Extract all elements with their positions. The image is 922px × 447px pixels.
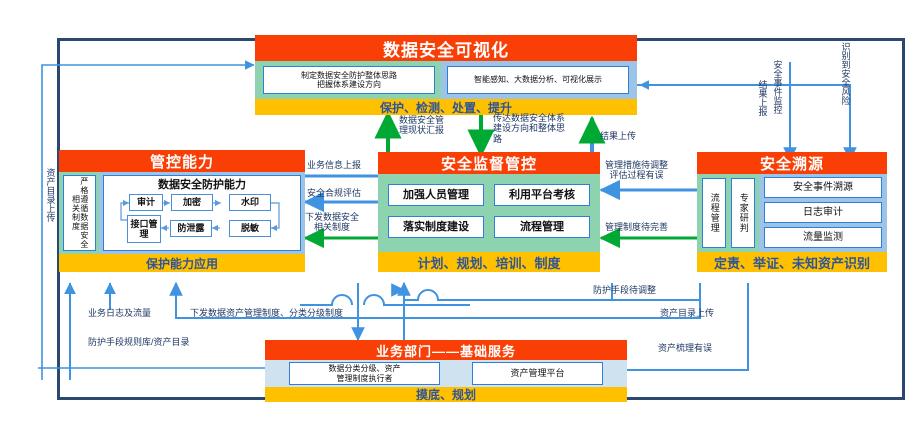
label-asset-catalog-upload-center: 资产目录上传 <box>660 308 714 318</box>
business-left-cell: 数据分类分级、资产 管理制度执行者 <box>265 360 450 387</box>
node-process-management[interactable]: 流程管理 <box>494 216 590 238</box>
control-capability-side-box[interactable]: 严格遵循数据安全相关制度 <box>63 175 96 251</box>
traceability-side-box-process[interactable]: 流程管理 <box>702 178 726 248</box>
diagram-canvas: 数据安全可视化 制定数据安全防护整体思路 把握体系建设方向 智能感知、大数据分析… <box>0 0 922 447</box>
label-asset-catalog-upload-left: 资产目录上传 <box>45 168 54 222</box>
node-strengthen-personnel[interactable]: 加强人员管理 <box>388 184 484 206</box>
label-asset-review-error: 资产梳理有误 <box>658 343 712 353</box>
label-business-info-report: 业务信息上报 <box>307 160 361 170</box>
control-capability-main-band: 数据安全防护能力 <box>99 172 305 254</box>
visualization-title: 数据安全可视化 <box>255 35 637 61</box>
node-traffic-monitoring[interactable]: 流量监测 <box>764 227 882 248</box>
node-watermark[interactable]: 水印 <box>229 194 271 211</box>
supervision-title: 安全监督管控 <box>378 152 600 174</box>
panel-traceability: 安全溯源 流程管理 专家研判 安全事件溯源 日志审计 流量监测 定责、举证、未知… <box>697 152 887 272</box>
panel-supervision: 安全监督管控 加强人员管理 利用平台考核 落实制度建设 流程管理 计划、规划、培… <box>378 152 600 272</box>
supervision-footer: 计划、规划、培训、制度 <box>378 252 600 272</box>
control-capability-side-band: 严格遵循数据安全相关制度 <box>59 172 99 254</box>
label-convey-direction: 传达数据安全体系 建设方向和整体思 路 <box>493 113 565 144</box>
node-leak-prevention[interactable]: 防泄露 <box>170 220 212 237</box>
label-system-to-improve: 管理制度待完善 <box>605 222 668 232</box>
traceability-side-band: 流程管理 专家研判 <box>697 174 759 252</box>
visualization-right-box[interactable]: 智能感知、大数据分析、可视化展示 <box>447 66 629 94</box>
visualization-left-box[interactable]: 制定数据安全防护整体思路 把握体系建设方向 <box>263 66 435 94</box>
label-security-event-monitor: 安全事件监控 <box>772 60 781 114</box>
node-audit[interactable]: 审计 <box>129 194 163 211</box>
label-report-status: 数据安全管 理现状汇报 <box>399 115 444 136</box>
label-compliance-assessment: 安全合规评估 <box>307 188 361 198</box>
traceability-side-box-expert[interactable]: 专家研判 <box>731 178 755 248</box>
panel-business: 业务部门——基础服务 数据分类分级、资产 管理制度执行者 资产管理平台 摸底、规… <box>265 340 627 402</box>
traceability-main-band: 安全事件溯源 日志审计 流量监测 <box>759 174 887 252</box>
node-desensitization[interactable]: 脱敏 <box>229 220 271 237</box>
label-protection-to-adjust: 防护手段待调整 <box>593 285 656 295</box>
label-result-report: 结果上报 <box>757 80 766 116</box>
visualization-footer: 保护、检测、处置、提升 <box>255 99 637 115</box>
label-issue-asset-rules: 下发数据资产管理制度、分类分级制度 <box>190 308 343 318</box>
label-business-logs-traffic: 业务日志及流量 <box>88 308 151 318</box>
label-result-upload: 结果上传 <box>600 131 636 141</box>
label-measures-to-adjust: 管理措施待调整 评估过程有误 <box>605 160 668 181</box>
node-implement-system[interactable]: 落实制度建设 <box>388 216 484 238</box>
business-title: 业务部门——基础服务 <box>265 340 627 360</box>
node-encryption[interactable]: 加密 <box>171 194 213 211</box>
control-capability-footer: 保护能力应用 <box>59 254 305 272</box>
traceability-title: 安全溯源 <box>697 152 887 174</box>
control-capability-body: 严格遵循数据安全相关制度 数据安全防护能力 <box>59 172 305 254</box>
node-interface-management[interactable]: 接口管理 <box>127 215 161 243</box>
panel-control-capability: 管控能力 严格遵循数据安全相关制度 数据安全防护能力 <box>59 150 305 272</box>
node-platform-assessment[interactable]: 利用平台考核 <box>494 184 590 206</box>
label-issue-security-rules: 下发数据安全 相关制度 <box>305 212 359 233</box>
node-incident-traceability[interactable]: 安全事件溯源 <box>764 177 882 198</box>
visualization-blue-band: 智能感知、大数据分析、可视化展示 <box>441 61 637 99</box>
business-right-box[interactable]: 资产管理平台 <box>472 362 603 385</box>
business-right-cell: 资产管理平台 <box>450 360 627 387</box>
panel-visualization: 数据安全可视化 制定数据安全防护整体思路 把握体系建设方向 智能感知、大数据分析… <box>255 35 637 115</box>
business-body: 数据分类分级、资产 管理制度执行者 资产管理平台 <box>265 360 627 387</box>
control-capability-title: 管控能力 <box>59 150 305 172</box>
visualization-body: 制定数据安全防护整体思路 把握体系建设方向 智能感知、大数据分析、可视化展示 <box>255 61 637 99</box>
visualization-green-band: 制定数据安全防护整体思路 把握体系建设方向 <box>255 61 441 99</box>
traceability-body: 流程管理 专家研判 安全事件溯源 日志审计 流量监测 <box>697 174 887 252</box>
traceability-footer: 定责、举证、未知资产识别 <box>697 252 887 272</box>
label-protection-rule-library: 防护手段规则库/资产目录 <box>88 337 190 347</box>
business-footer: 摸底、规划 <box>265 387 627 402</box>
node-log-audit[interactable]: 日志审计 <box>764 202 882 223</box>
label-identified-risk: 识别到安全风险 <box>840 42 849 105</box>
supervision-body: 加强人员管理 利用平台考核 落实制度建设 流程管理 <box>378 174 600 252</box>
business-left-box[interactable]: 数据分类分级、资产 管理制度执行者 <box>289 362 440 385</box>
